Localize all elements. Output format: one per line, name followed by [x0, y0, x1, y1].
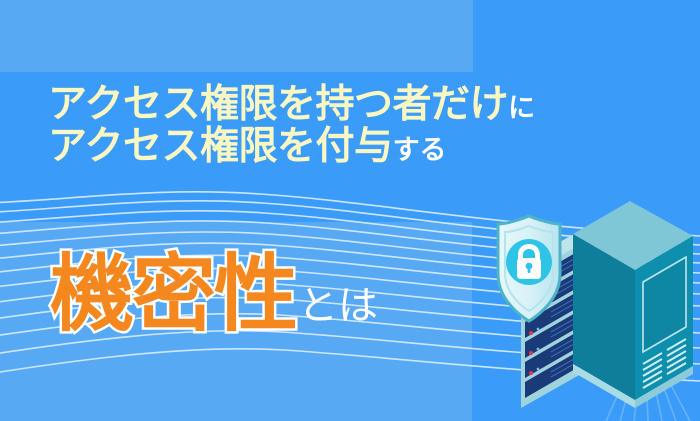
background-block-top	[0, 0, 473, 72]
headline-line-2-main: アクセス権限を付与	[48, 124, 393, 169]
page-title-suffix: とは	[298, 283, 378, 329]
headline-line-2: アクセス権限を付与する	[48, 126, 668, 168]
headline-line-2-sub: する	[393, 135, 447, 166]
page-title-main: 機密性	[50, 245, 296, 343]
confidentiality-banner: アクセス権限を持つ者だけに アクセス権限を付与する 機密性とは	[0, 0, 700, 421]
headline-line-1-main: アクセス権限を持つ者だけ	[48, 82, 508, 127]
headline-line-1-sub: に	[508, 93, 535, 124]
headline-line-1: アクセス権限を持つ者だけに	[48, 84, 668, 126]
headline: アクセス権限を持つ者だけに アクセス権限を付与する	[48, 84, 668, 168]
page-title: 機密性とは	[50, 252, 378, 336]
server-security-illustration	[488, 196, 700, 421]
